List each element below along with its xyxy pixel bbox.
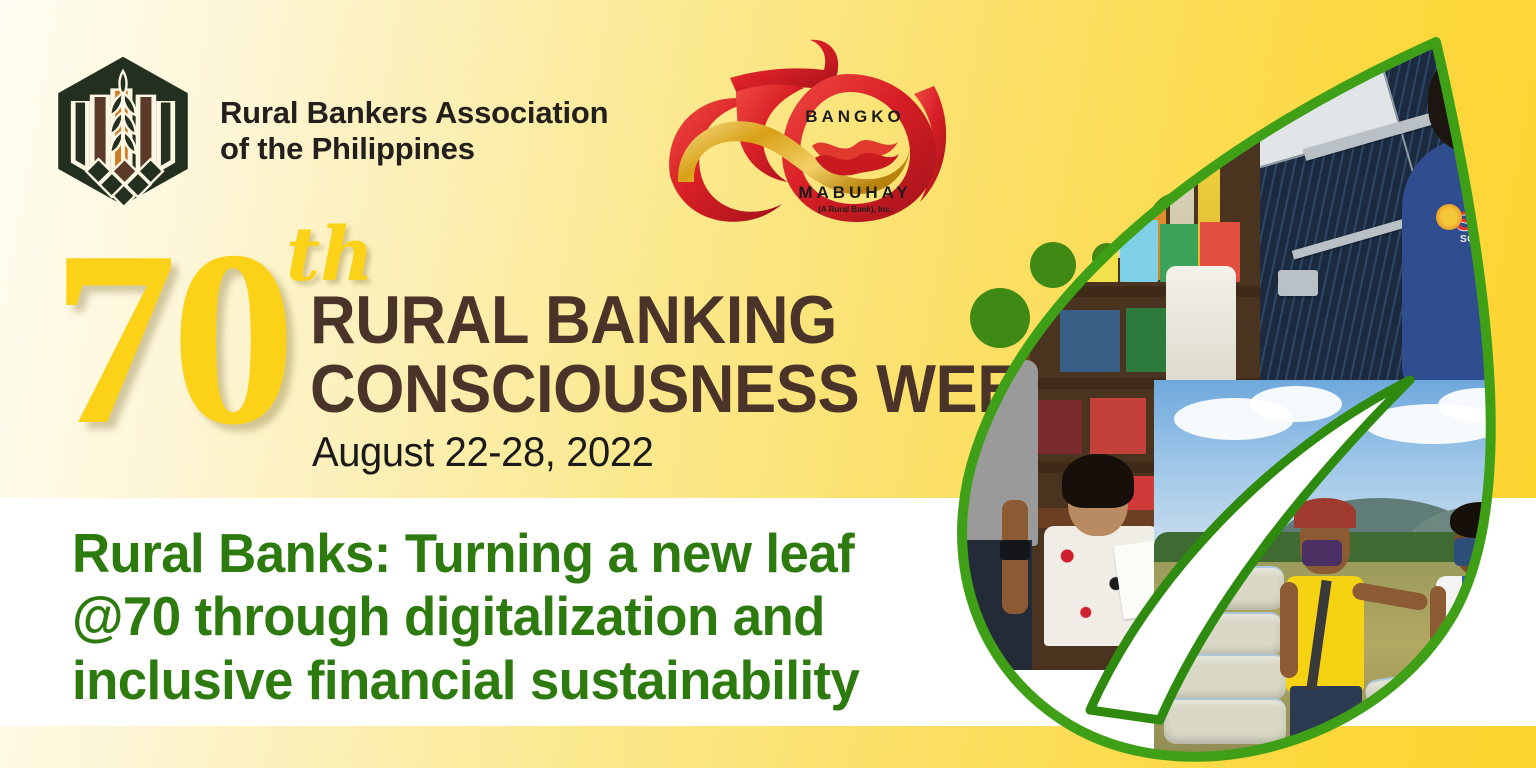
- event-theme: Rural Banks: Turning a new leaf @70 thro…: [72, 522, 859, 712]
- solar-panel-photo: SOL SOLAR E: [1260, 20, 1536, 380]
- event-dates: August 22-28, 2022: [312, 428, 653, 476]
- anniv-bank-subtitle: (A Rural Bank), Inc.: [818, 205, 892, 214]
- theme-line3: inclusive financial sustainability: [72, 649, 859, 712]
- anniv-bank-name-top: BANGKO: [805, 107, 905, 126]
- rbap-logo-block: Rural Bankers Association of the Philipp…: [44, 52, 608, 210]
- theme-line2: @70 through digitalization and: [72, 585, 859, 648]
- theme-line1: Rural Banks: Turning a new leaf: [72, 522, 859, 585]
- rbcw-banner: Rural Bankers Association of the Philipp…: [0, 0, 1536, 768]
- rbap-name: Rural Bankers Association of the Philipp…: [220, 95, 608, 167]
- event-title-line1: RURAL BANKING: [310, 282, 837, 358]
- leaf-photo-collage: SOL SOLAR E: [940, 20, 1536, 768]
- rbap-wheat-hexagon-icon: [44, 52, 202, 210]
- anniv-bank-name-bottom: MABUHAY: [798, 183, 911, 202]
- bangko-mabuhay-50th-icon: BANGKO MABUHAY (A Rural Bank), Inc.: [652, 26, 972, 246]
- event-ordinal-number: 70: [52, 214, 290, 464]
